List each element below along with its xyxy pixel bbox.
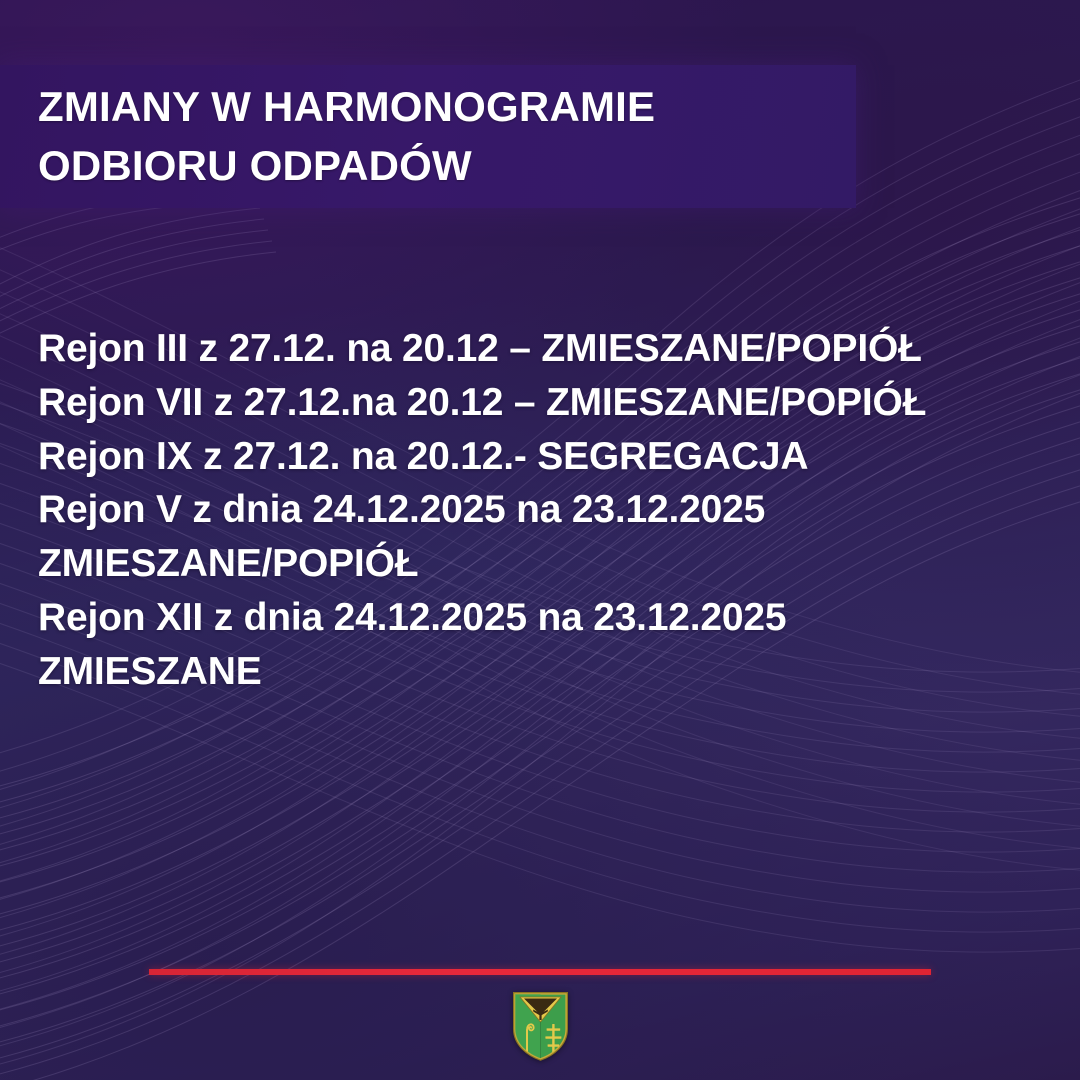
footer-divider <box>149 969 931 975</box>
page-title-line-2: ODBIORU ODPADÓW <box>38 136 868 195</box>
announcement-line: Rejon IX z 27.12. na 20.12.- SEGREGACJA <box>38 430 1048 484</box>
announcement-line: Rejon III z 27.12. na 20.12 – ZMIESZANE/… <box>38 322 1048 376</box>
announcement-list: Rejon III z 27.12. na 20.12 – ZMIESZANE/… <box>38 322 1048 699</box>
page-title: ZMIANY W HARMONOGRAMIE ODBIORU ODPADÓW <box>38 77 868 195</box>
announcement-line: Rejon VII z 27.12.na 20.12 – ZMIESZANE/P… <box>38 376 1048 430</box>
announcement-line: ZMIESZANE/POPIÓŁ <box>38 537 1048 591</box>
page-title-line-1: ZMIANY W HARMONOGRAMIE <box>38 77 868 136</box>
coat-of-arms-icon <box>512 991 569 1061</box>
announcement-line: ZMIESZANE <box>38 645 1048 699</box>
announcement-line: Rejon V z dnia 24.12.2025 na 23.12.2025 <box>38 483 1048 537</box>
announcement-line: Rejon XII z dnia 24.12.2025 na 23.12.202… <box>38 591 1048 645</box>
poster-canvas: ZMIANY W HARMONOGRAMIE ODBIORU ODPADÓW R… <box>0 0 1080 1080</box>
